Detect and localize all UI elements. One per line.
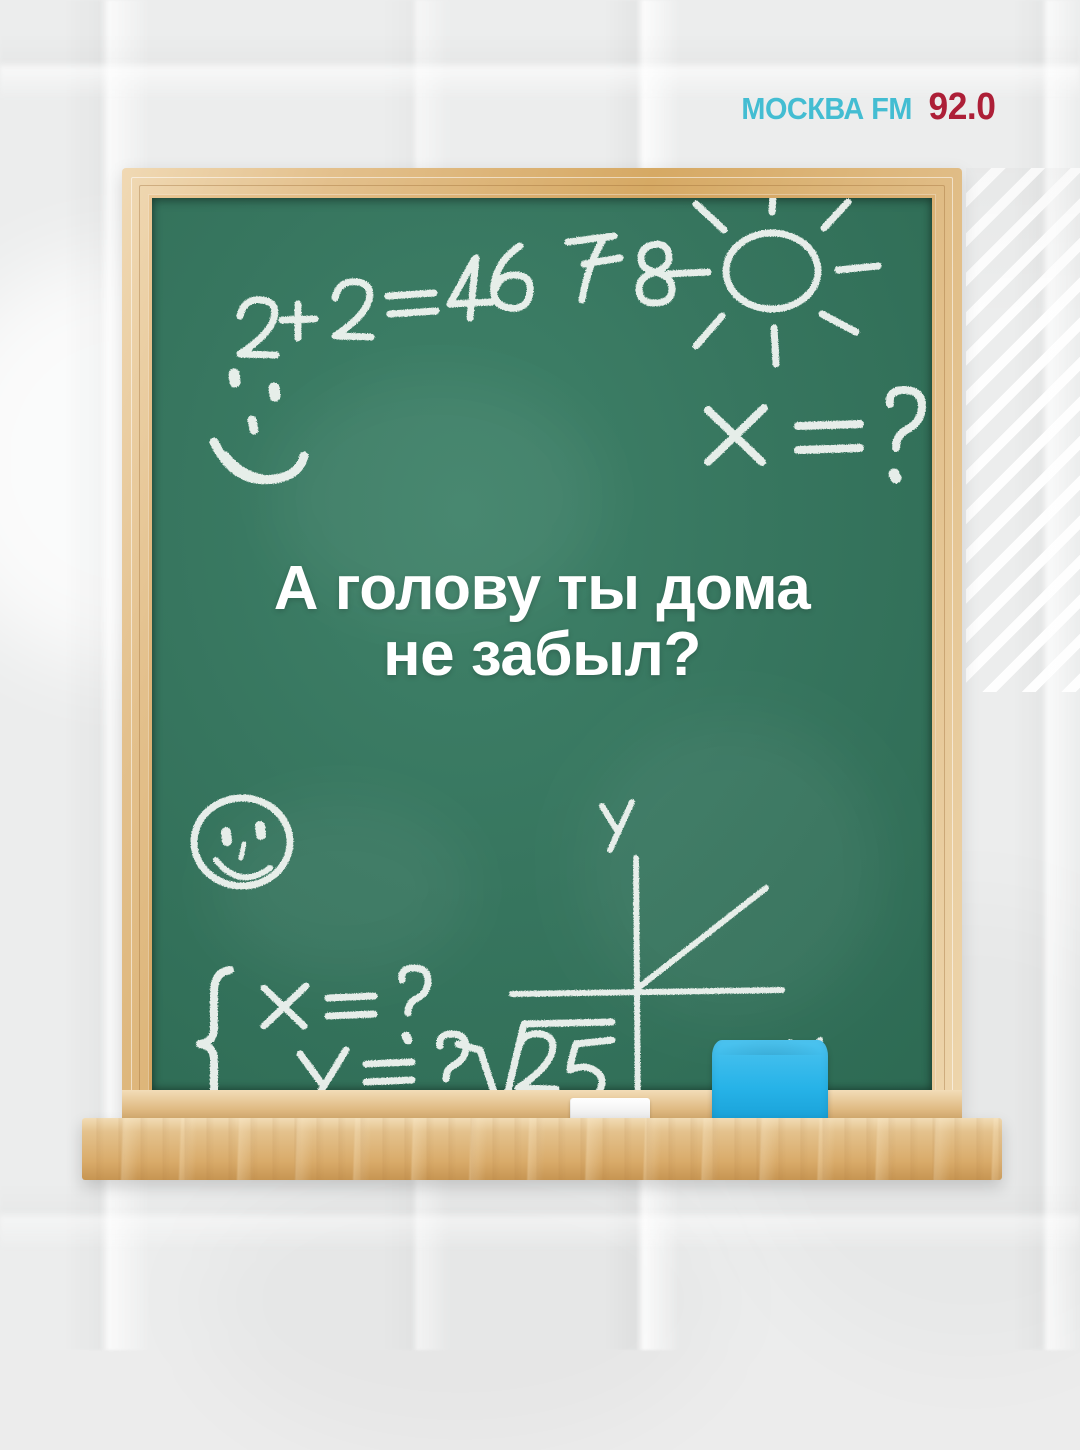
chalk-curly-brace [200,970,232,1090]
chalk-smiley-open-mouth [214,374,304,480]
station-logo: МОСКВА FM 92.0 [735,86,998,129]
chalk-smiley-circle [194,798,290,886]
chalk-square-root [458,1022,612,1090]
blackboard-shelf [82,1118,1002,1180]
paper-crease-horizontal [0,1180,1080,1250]
chalk-system-x [264,968,428,1040]
headline-line-1: А голову ты дома [182,556,902,622]
shelf-wood-grain [82,1118,1002,1180]
chalk-digits [494,236,672,308]
diagonal-stripes-decoration [966,168,1080,692]
chalk-sun-drawing [668,198,878,364]
chalk-unknown-x [708,390,922,478]
blackboard-surface: А голову ты дома не забыл? [152,198,932,1090]
blackboard: А голову ты дома не забыл? [122,168,962,1120]
page-title: А голову ты дома не забыл? [152,556,932,687]
chalk-system-y [300,1034,466,1090]
headline-line-2: не забыл? [182,622,902,688]
board-eraser-sponge[interactable] [712,1040,828,1126]
station-frequency-text: 92.0 [929,86,996,129]
station-name-text: МОСКВА FM [741,91,912,127]
chalk-equation-sum [240,258,492,355]
